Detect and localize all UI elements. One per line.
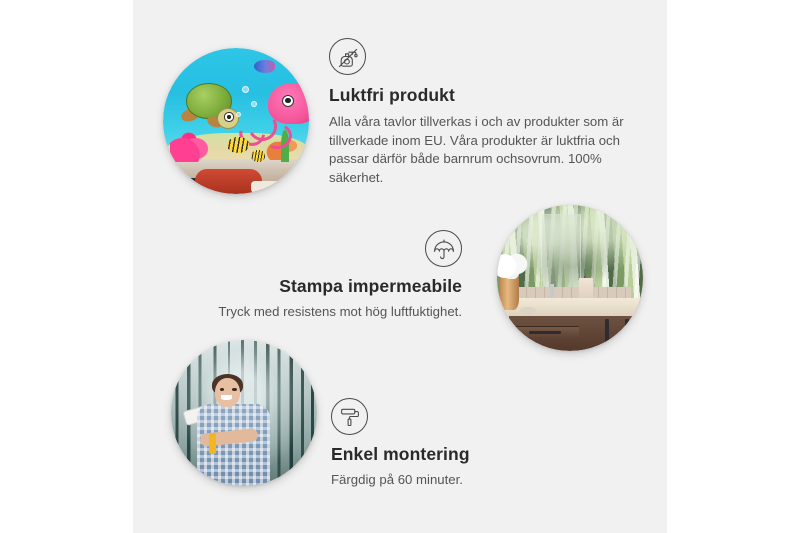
woman-eye: [232, 388, 236, 391]
blue-fish-icon: [254, 60, 276, 73]
feature-block-waterproof: Stampa impermeabile Tryck med resistens …: [190, 230, 462, 322]
white-flowers-icon: [497, 253, 529, 279]
cabinet-handle-icon: [605, 319, 609, 342]
aquarium-side-table: [251, 181, 289, 193]
feature-description: Tryck med resistens mot hög luftfuktighe…: [190, 303, 462, 322]
umbrella-icon: [425, 230, 462, 267]
painter-photo-inner: [171, 340, 317, 486]
woman-smile: [221, 395, 233, 399]
feature-description: Alla våra tavlor tillverkas i och av pro…: [329, 113, 629, 188]
feature-title: Enkel montering: [331, 444, 581, 466]
feature-panel-screenshot: Luktfri produkt Alla våra tavlor tillver…: [0, 0, 800, 533]
striped-fish-icon: [227, 137, 249, 153]
feature-block-odorless: Luktfri produkt Alla våra tavlor tillver…: [329, 38, 629, 188]
handheld-tool: [209, 433, 216, 453]
feature-block-assembly: Enkel montering Färgdig på 60 minuter.: [331, 398, 581, 490]
gold-vase: [500, 275, 519, 310]
drawer-handle-icon: [529, 331, 561, 334]
cabinet-handle-icon: [625, 319, 629, 342]
woman-face: [215, 378, 240, 407]
no-perfume-spray-icon: [329, 38, 366, 75]
feature-title: Stampa impermeabile: [190, 276, 462, 298]
botanical-bathroom-wallpaper-photo: [497, 205, 643, 351]
bathroom-photo-inner: [497, 205, 643, 351]
stone-countertop: [497, 298, 643, 317]
aquarium-photo-inner: [163, 48, 309, 194]
bathroom-mirror: [541, 214, 581, 298]
feature-title: Luktfri produkt: [329, 85, 629, 107]
turtle-eye-icon: [224, 112, 233, 121]
feature-description: Färgdig på 60 minuter.: [331, 471, 581, 490]
striped-fish-icon: [251, 150, 266, 162]
painter-forest-wallpaper-photo: [171, 340, 317, 486]
pink-coral-icon: [170, 127, 211, 162]
underwater-cartoon-wallpaper-photo: [163, 48, 309, 194]
paint-roller-icon: [331, 398, 368, 435]
bubble-icon: [242, 86, 249, 93]
bubble-icon: [251, 101, 257, 107]
